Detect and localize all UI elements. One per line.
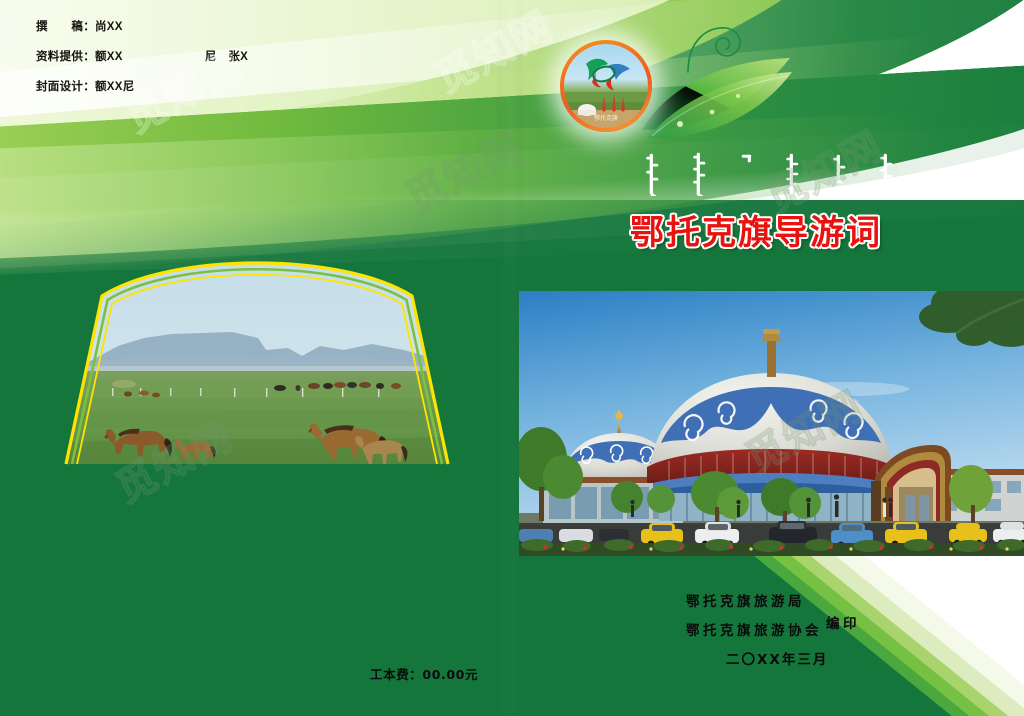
mongolian-word-1	[645, 152, 661, 196]
mongolian-word-2	[692, 152, 708, 196]
yurt-building-photo	[519, 291, 1024, 556]
fan-photo-content	[52, 238, 462, 474]
tourism-logo: 鄂托克旗	[560, 40, 652, 132]
logo-face: 鄂托克旗	[564, 44, 648, 128]
grassland-photo-fan	[52, 238, 462, 474]
print-label: 编印	[826, 612, 860, 632]
credits-block: 撰 稿： 尚XX 资料提供： 额XX 尼 张X 封面设计： 额XX尼	[36, 18, 466, 108]
cost-label: 工本费：00.00元	[370, 664, 478, 683]
publisher-block: 鄂托克旗旅游局 鄂托克旗旅游协会 二〇XX年三月 编印	[600, 590, 930, 677]
logo-artwork: 鄂托克旗	[564, 44, 648, 128]
dome-finial-mast	[767, 341, 776, 377]
mongolian-word-5	[832, 152, 848, 196]
credit-label: 资料提供：	[36, 48, 95, 64]
credit-extra: 尼 张X	[205, 48, 248, 64]
spiral-tendril-icon	[686, 22, 746, 82]
credit-row: 封面设计： 额XX尼	[36, 78, 466, 94]
credit-row: 撰 稿： 尚XX	[36, 18, 466, 34]
book-cover-canvas: 撰 稿： 尚XX 资料提供： 额XX 尼 张X 封面设计： 额XX尼	[0, 0, 1024, 716]
publisher-org-2: 鄂托克旗旅游协会	[600, 619, 930, 639]
mongolian-word-3	[739, 152, 755, 196]
credit-value: 额XX尼	[95, 78, 135, 94]
credit-label: 封面设计：	[36, 78, 95, 94]
logo-caption: 鄂托克旗	[594, 114, 618, 122]
mongolian-word-6	[879, 152, 895, 196]
mongolian-title	[645, 152, 895, 198]
credit-value: 尚XX	[95, 18, 123, 34]
publication-date: 二〇XX年三月	[600, 648, 930, 668]
publisher-org-1: 鄂托克旗旅游局	[600, 590, 930, 610]
credit-row: 资料提供： 额XX 尼 张X	[36, 48, 466, 64]
credit-value: 额XX	[95, 48, 123, 64]
credit-label: 撰 稿：	[36, 18, 95, 34]
page-title: 鄂托克旗导游词	[630, 205, 882, 254]
mongolian-word-4	[785, 152, 801, 196]
